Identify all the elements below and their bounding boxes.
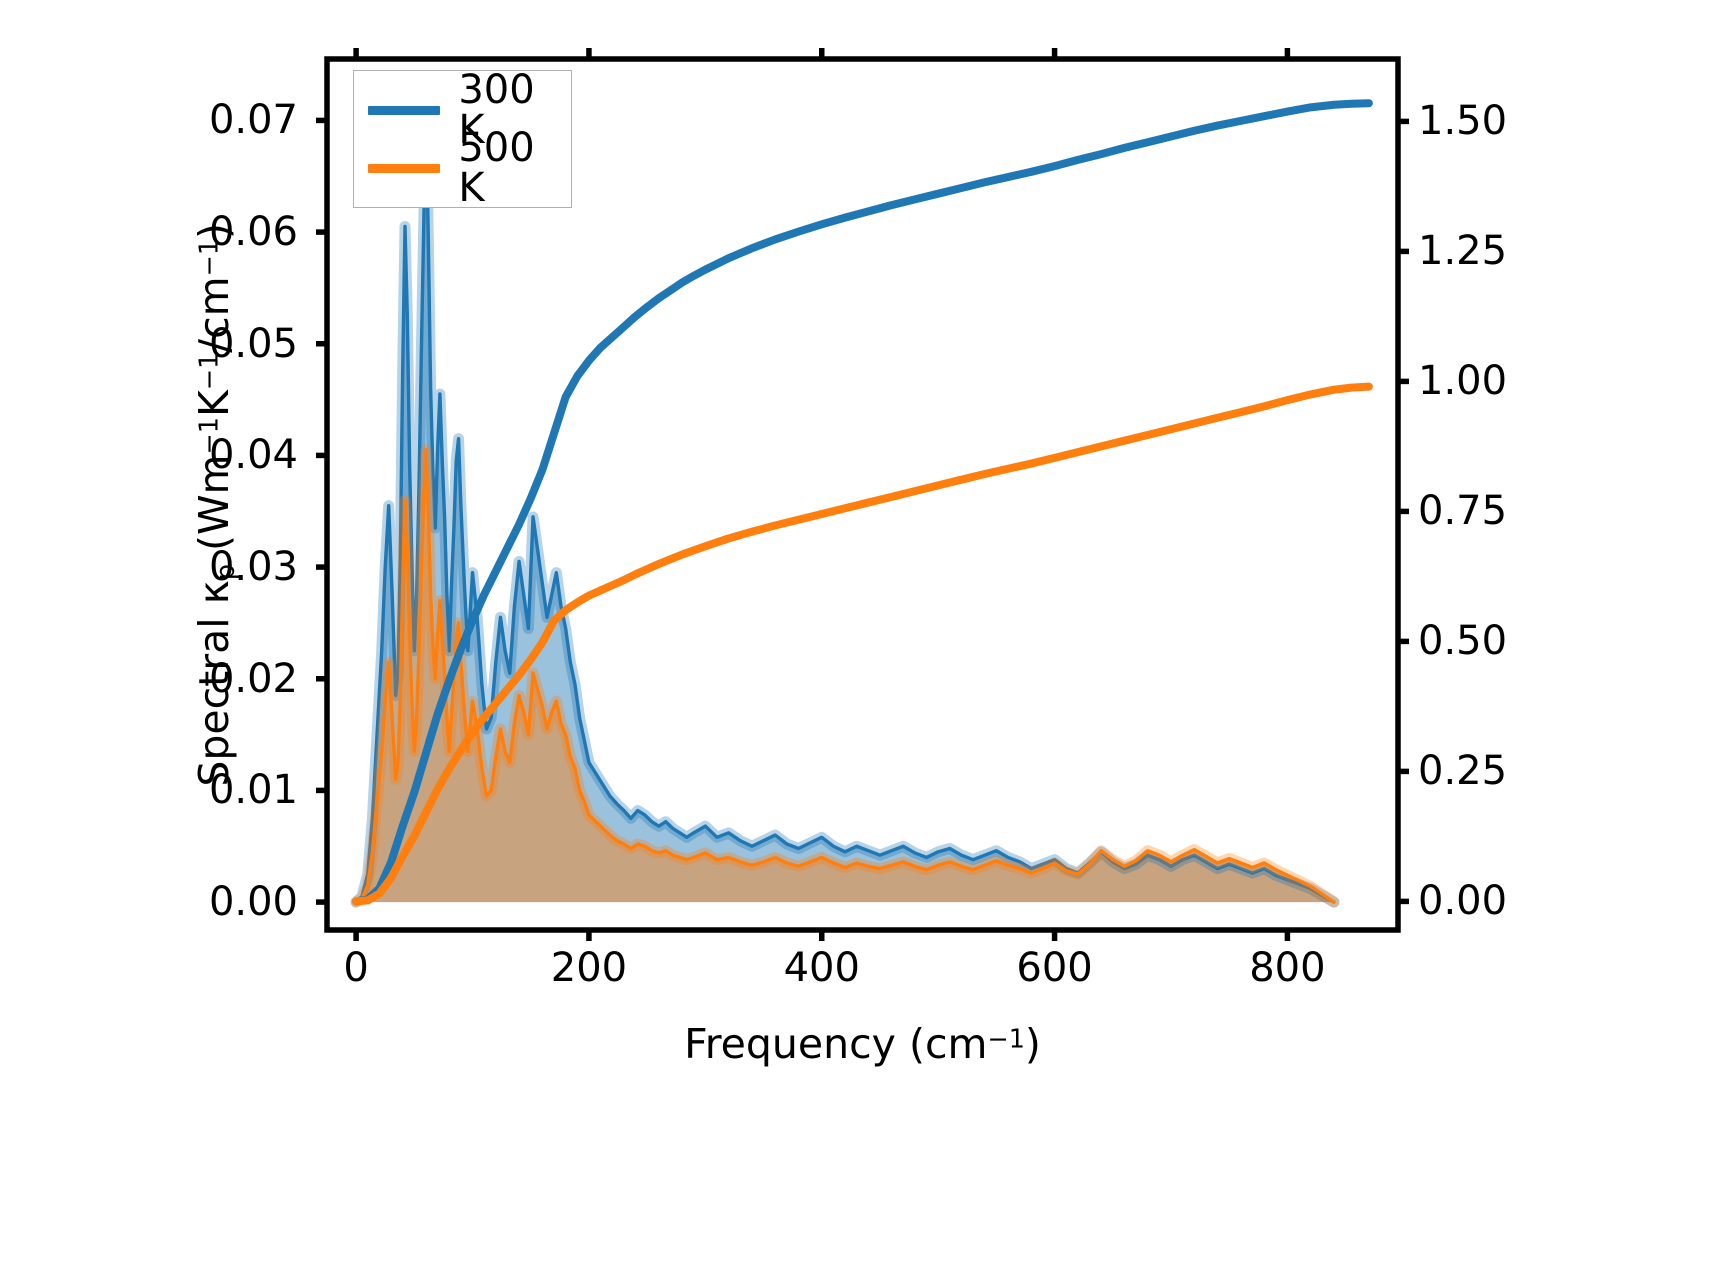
x-ticklabel: 600 [1016, 945, 1092, 991]
figure-canvas: Spectral κp (Wm−1K−1/cm−1) Cumulative κl… [0, 0, 1716, 1264]
x-ticklabel: 400 [784, 945, 860, 991]
x-ticklabel: 800 [1249, 945, 1325, 991]
y-right-ticklabel: 0.00 [1418, 878, 1507, 924]
x-axis-title: Frequency (cm−1) [327, 1020, 1398, 1068]
chart-legend[interactable]: 300 K500 K [353, 70, 572, 208]
y-axis-right-title: Cumulative κlat (Wm−1K−1) [1710, 75, 1716, 935]
legend-swatch-icon [368, 164, 440, 173]
y-right-ticklabel: 1.50 [1418, 98, 1507, 144]
y-left-ticklabel: 0.07 [209, 97, 298, 143]
legend-label: 500 K [458, 128, 571, 208]
y-right-ticklabel: 0.75 [1418, 488, 1507, 534]
x-ticklabel: 0 [343, 945, 368, 991]
x-ticklabel: 200 [551, 945, 627, 991]
y-left-ticklabel: 0.02 [209, 656, 298, 702]
y-left-ticklabel: 0.01 [209, 767, 298, 813]
legend-entry[interactable]: 500 K [354, 140, 571, 196]
y-right-ticklabel: 1.00 [1418, 358, 1507, 404]
legend-swatch-icon [368, 106, 440, 115]
y-left-ticklabel: 0.06 [209, 209, 298, 255]
y-left-ticklabel: 0.03 [209, 544, 298, 590]
y-right-ticklabel: 0.25 [1418, 748, 1507, 794]
y-right-ticklabel: 1.25 [1418, 228, 1507, 274]
y-right-ticklabel: 0.50 [1418, 618, 1507, 664]
y-left-ticklabel: 0.05 [209, 321, 298, 367]
y-left-ticklabel: 0.00 [209, 879, 298, 925]
y-left-ticklabel: 0.04 [209, 432, 298, 478]
